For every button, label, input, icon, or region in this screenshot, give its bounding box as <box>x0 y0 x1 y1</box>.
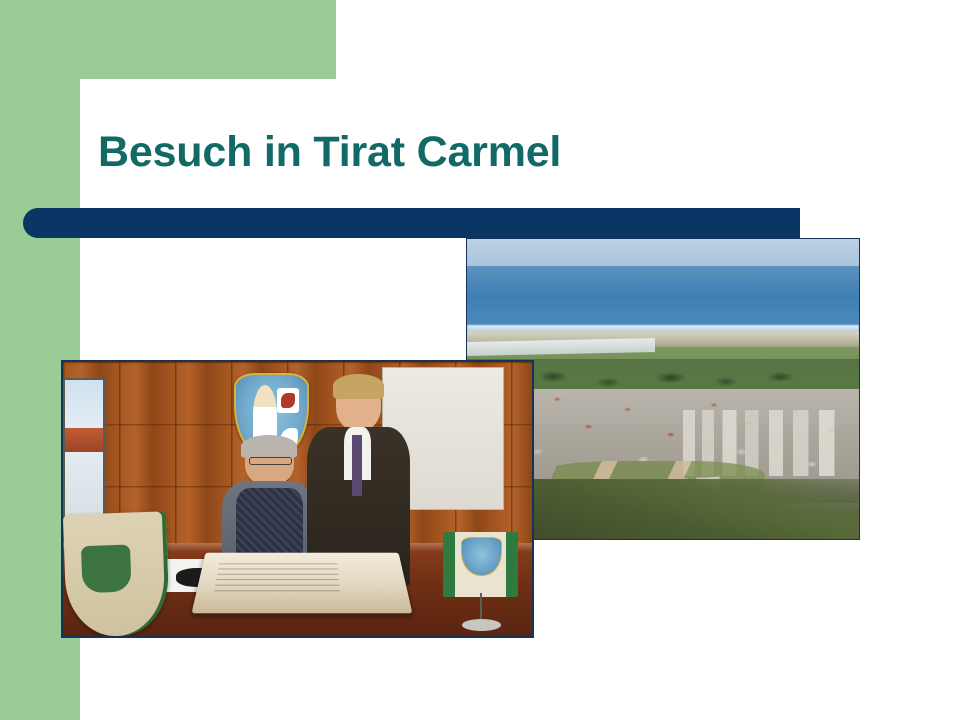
table-flag-base <box>462 619 501 631</box>
pennant-emblem <box>81 544 132 593</box>
window-outside-roof <box>65 428 103 453</box>
coat-of-arms-lion <box>277 388 300 413</box>
standing-man-in-suit <box>307 378 410 581</box>
table-flag <box>438 532 522 631</box>
signing-ceremony-photo <box>61 360 534 638</box>
slide-canvas: Besuch in Tirat Carmel <box>0 0 960 720</box>
table-flag-cloth <box>443 532 517 597</box>
golden-guest-book <box>192 553 413 613</box>
aerial-sea <box>467 266 859 332</box>
green-top-block <box>0 0 336 79</box>
standing-man-hair <box>333 374 385 398</box>
aerial-sky <box>467 239 859 266</box>
seated-man-glasses <box>249 457 292 466</box>
slide-title: Besuch in Tirat Carmel <box>98 128 878 177</box>
guest-book-handwriting <box>213 564 340 594</box>
table-flag-coat-of-arms <box>461 537 502 575</box>
title-accent-bar <box>23 208 800 238</box>
standing-man-tie <box>352 435 361 496</box>
seated-man-hair <box>241 435 297 458</box>
